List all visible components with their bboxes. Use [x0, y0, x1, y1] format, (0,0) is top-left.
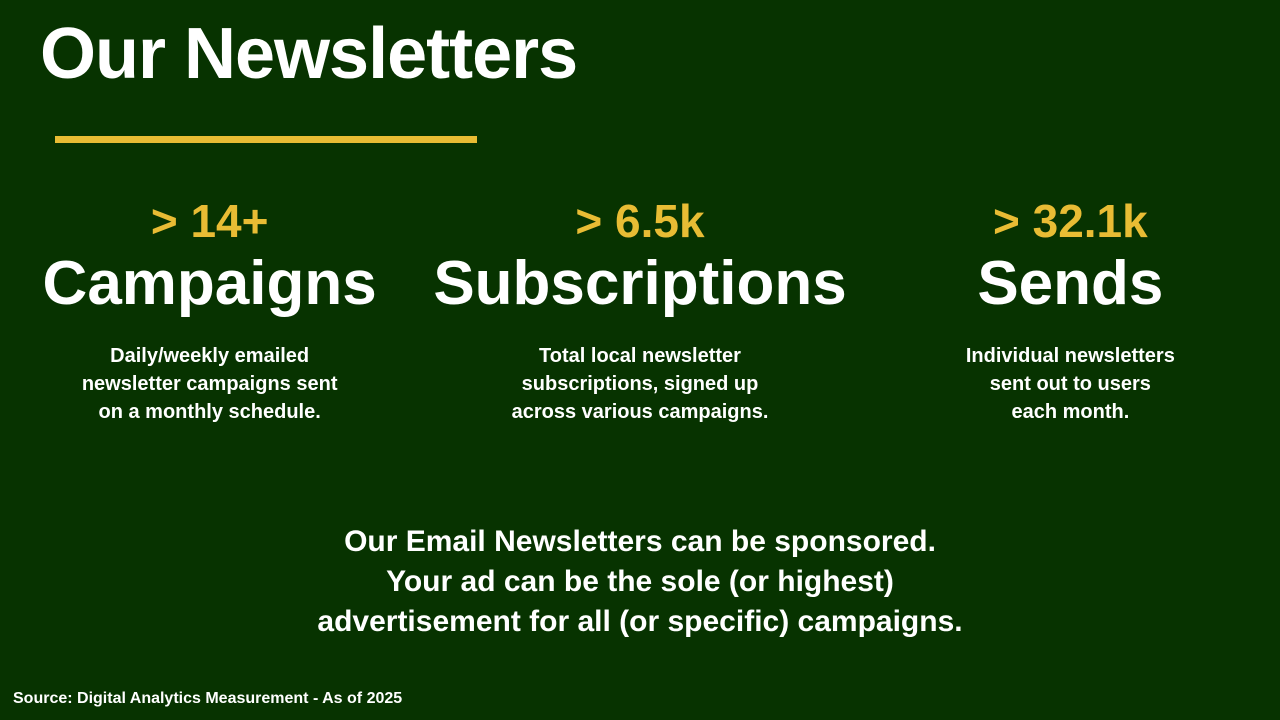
sponsorship-line: Your ad can be the sole (or highest) [0, 562, 1280, 602]
sponsorship-message: Our Email Newsletters can be sponsored. … [0, 522, 1280, 642]
stat-desc-line: subscriptions, signed up [433, 370, 846, 398]
stat-card-campaigns: > 14+ Campaigns Daily/weekly emailed new… [0, 196, 419, 426]
stat-desc-line: sent out to users [875, 370, 1266, 398]
title-underline-rule [55, 136, 477, 143]
stat-description-subscriptions: Total local newsletter subscriptions, si… [433, 342, 846, 426]
page-title: Our Newsletters [40, 18, 1240, 90]
stat-desc-line: on a monthly schedule. [14, 398, 405, 426]
stat-desc-line: each month. [875, 398, 1266, 426]
stat-description-sends: Individual newsletters sent out to users… [875, 342, 1266, 426]
stat-desc-line: Daily/weekly emailed [14, 342, 405, 370]
stat-desc-line: Individual newsletters [875, 342, 1266, 370]
sponsorship-line: advertisement for all (or specific) camp… [0, 602, 1280, 642]
stat-card-sends: > 32.1k Sends Individual newsletters sen… [861, 196, 1280, 426]
stat-label-subscriptions: Subscriptions [433, 249, 846, 318]
slide-root: Our Newsletters > 14+ Campaigns Daily/we… [0, 0, 1280, 720]
stat-desc-line: newsletter campaigns sent [14, 370, 405, 398]
stat-label-campaigns: Campaigns [14, 249, 405, 318]
stat-value-sends: > 32.1k [875, 196, 1266, 247]
stat-value-subscriptions: > 6.5k [433, 196, 846, 247]
stat-label-sends: Sends [875, 249, 1266, 318]
stat-description-campaigns: Daily/weekly emailed newsletter campaign… [14, 342, 405, 426]
stat-desc-line: across various campaigns. [433, 398, 846, 426]
title-block: Our Newsletters [40, 18, 1240, 90]
sponsorship-line: Our Email Newsletters can be sponsored. [0, 522, 1280, 562]
stat-value-campaigns: > 14+ [14, 196, 405, 247]
stats-row: > 14+ Campaigns Daily/weekly emailed new… [0, 196, 1280, 426]
stat-card-subscriptions: > 6.5k Subscriptions Total local newslet… [419, 196, 860, 426]
stat-desc-line: Total local newsletter [433, 342, 846, 370]
source-note: Source: Digital Analytics Measurement - … [13, 689, 402, 708]
